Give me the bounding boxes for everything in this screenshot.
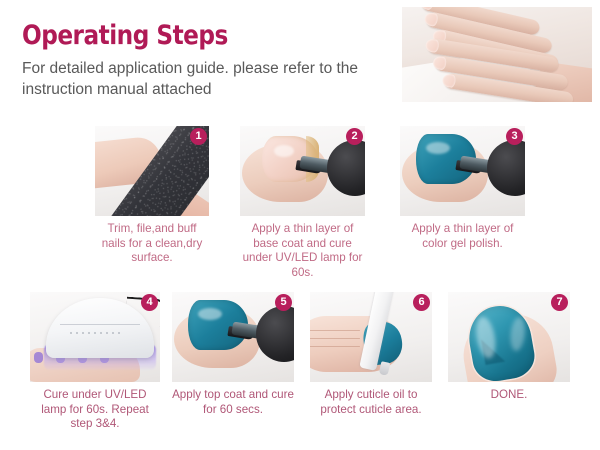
hero-image-hands-with-natural-nails <box>402 7 592 102</box>
nail-highlight <box>509 316 526 351</box>
nail-gloss <box>198 308 222 320</box>
lamp-vent-dots <box>68 331 120 335</box>
step-5-image-top-coat-brush: 5 <box>172 292 294 382</box>
hero-nail <box>425 38 440 53</box>
hero-nail <box>432 56 447 71</box>
step-badge-3: 3 <box>506 128 523 145</box>
step-card-2: 2 Apply a thin layer of base coat and cu… <box>240 126 365 280</box>
step-card-4: 4 Cure under UV/LED lamp for 60s. Repeat… <box>30 292 160 432</box>
step-caption-1: Trim, file,and buff nails for a clean,dr… <box>95 222 209 266</box>
step-card-3: 3 Apply a thin layer of color gel polish… <box>400 126 525 251</box>
step-4-image-uv-led-lamp-curing: 4 <box>30 292 160 382</box>
step-caption-2: Apply a thin layer of base coat and cure… <box>240 222 365 280</box>
steps-row-second: 4 Cure under UV/LED lamp for 60s. Repeat… <box>0 292 600 444</box>
skin-crease <box>310 338 360 339</box>
step-badge-7: 7 <box>551 294 568 311</box>
step-1-image-nail-file-buffing: 1 <box>95 126 209 216</box>
step-caption-4: Cure under UV/LED lamp for 60s. Repeat s… <box>30 388 160 432</box>
page-header: Operating Steps For detailed application… <box>0 0 600 118</box>
step-caption-7: DONE. <box>448 388 570 403</box>
step-badge-2: 2 <box>346 128 363 145</box>
step-card-1: 1 Trim, file,and buff nails for a clean,… <box>95 126 209 266</box>
step-card-7: 7 DONE. <box>448 292 570 403</box>
step-2-image-base-coat-brush: 2 <box>240 126 365 216</box>
step-badge-5: 5 <box>275 294 292 311</box>
step-4-scene <box>30 292 160 382</box>
step-caption-5: Apply top coat and cure for 60 secs. <box>172 388 294 417</box>
skin-crease <box>310 346 360 347</box>
hero-nail <box>419 7 435 11</box>
skin-crease <box>310 330 360 331</box>
nail-gloss <box>274 145 294 157</box>
step-card-5: 5 Apply top coat and cure for 60 secs. <box>172 292 294 417</box>
nail-gloss <box>426 142 450 154</box>
step-3-image-color-gel-brush: 3 <box>400 126 525 216</box>
step-caption-3: Apply a thin layer of color gel polish. <box>400 222 525 251</box>
hero-nail <box>423 11 439 27</box>
page-subtitle: For detailed application guide. please r… <box>22 58 392 100</box>
step-6-image-cuticle-oil-pen: 6 <box>310 292 432 382</box>
step-card-6: 6 Apply cuticle oil to protect cuticle a… <box>310 292 432 417</box>
step-caption-6: Apply cuticle oil to protect cuticle are… <box>310 388 432 417</box>
hero-nail <box>442 73 457 88</box>
step-badge-4: 4 <box>141 294 158 311</box>
step-badge-1: 1 <box>190 128 207 145</box>
hand-nail <box>34 352 43 363</box>
step-badge-6: 6 <box>413 294 430 311</box>
page-title: Operating Steps <box>22 20 228 51</box>
step-7-image-finished-teal-nail: 7 <box>448 292 570 382</box>
steps-row-first: 1 Trim, file,and buff nails for a clean,… <box>0 126 600 284</box>
